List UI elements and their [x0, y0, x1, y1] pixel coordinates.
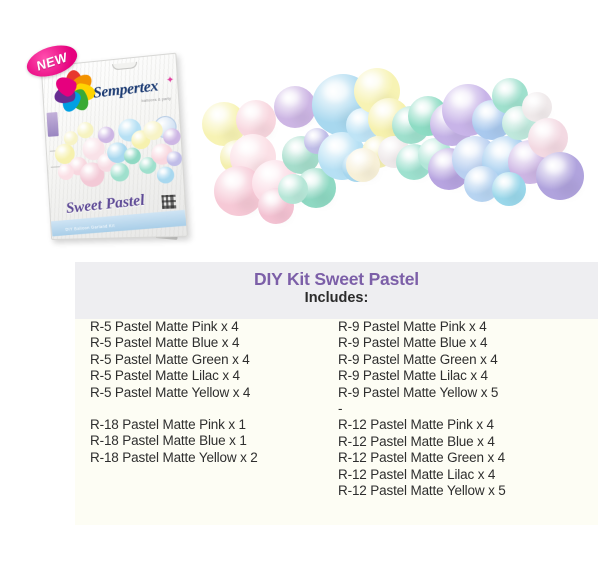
kit-contents-panel: DIY Kit Sweet Pastel Includes: R-5 Paste…	[75, 262, 598, 525]
list-item: R-9 Pastel Matte Pink x 4	[338, 319, 588, 335]
balloon	[143, 120, 163, 140]
list-item: R-12 Pastel Matte Green x 4	[338, 450, 588, 466]
balloon	[63, 131, 78, 146]
list-item: R-12 Pastel Matte Pink x 4	[338, 417, 588, 433]
contents-column-left: R-5 Pastel Matte Pink x 4R-5 Pastel Matt…	[90, 319, 335, 466]
balloon	[156, 166, 174, 184]
balloon	[110, 162, 130, 182]
item-group-r18: R-18 Pastel Matte Pink x 1R-18 Pastel Ma…	[90, 417, 335, 466]
page-title: DIY Kit Sweet Pastel	[75, 269, 598, 290]
item-group-r12: R-12 Pastel Matte Pink x 4R-12 Pastel Ma…	[338, 417, 588, 499]
list-item: R-18 Pastel Matte Blue x 1	[90, 433, 335, 449]
balloon	[77, 121, 94, 138]
list-item: R-9 Pastel Matte Yellow x 5	[338, 385, 588, 401]
product-page: Sempertex ✦ balloons & party Sweet Paste…	[0, 0, 600, 570]
balloon	[57, 163, 74, 180]
box-printed-garland	[51, 109, 182, 203]
sparkle-icon: ✦	[166, 75, 175, 85]
includes-subtitle: Includes:	[75, 290, 598, 306]
group-separator: -	[338, 401, 588, 417]
list-item: R-9 Pastel Matte Lilac x 4	[338, 368, 588, 384]
balloon-garland-photo	[196, 40, 600, 246]
product-hero-image: Sempertex ✦ balloons & party Sweet Paste…	[0, 0, 600, 258]
list-item: R-18 Pastel Matte Yellow x 2	[90, 450, 335, 466]
new-badge-label: NEW	[36, 49, 69, 74]
list-item: R-18 Pastel Matte Pink x 1	[90, 417, 335, 433]
contents-columns: R-5 Pastel Matte Pink x 4R-5 Pastel Matt…	[75, 319, 598, 525]
list-item: R-12 Pastel Matte Blue x 4	[338, 434, 588, 450]
product-box-photo: Sempertex ✦ balloons & party Sweet Paste…	[38, 62, 198, 252]
list-item: R-5 Pastel Matte Green x 4	[90, 352, 335, 368]
balloon	[274, 86, 316, 128]
item-group-r9: R-9 Pastel Matte Pink x 4R-9 Pastel Matt…	[338, 319, 588, 401]
box-front-panel: Sempertex ✦ balloons & party Sweet Paste…	[41, 53, 188, 240]
balloon	[97, 126, 114, 144]
balloon	[492, 172, 526, 206]
contents-column-right: R-9 Pastel Matte Pink x 4R-9 Pastel Matt…	[338, 319, 588, 499]
list-item: R-5 Pastel Matte Yellow x 4	[90, 385, 335, 401]
list-item: R-9 Pastel Matte Blue x 4	[338, 335, 588, 351]
list-item: R-5 Pastel Matte Lilac x 4	[90, 368, 335, 384]
balloon	[163, 128, 181, 146]
list-item: R-5 Pastel Matte Blue x 4	[90, 335, 335, 351]
list-item: R-9 Pastel Matte Green x 4	[338, 352, 588, 368]
panel-header: DIY Kit Sweet Pastel Includes:	[75, 262, 598, 319]
balloon	[166, 151, 182, 167]
list-item: R-12 Pastel Matte Lilac x 4	[338, 467, 588, 483]
list-item: R-12 Pastel Matte Yellow x 5	[338, 483, 588, 499]
balloon	[536, 152, 584, 200]
column-spacer	[90, 401, 335, 417]
item-group-r5: R-5 Pastel Matte Pink x 4R-5 Pastel Matt…	[90, 319, 335, 401]
list-item: R-5 Pastel Matte Pink x 4	[90, 319, 335, 335]
balloon	[278, 174, 308, 204]
balloon	[346, 148, 380, 182]
qr-code-icon	[161, 195, 176, 209]
